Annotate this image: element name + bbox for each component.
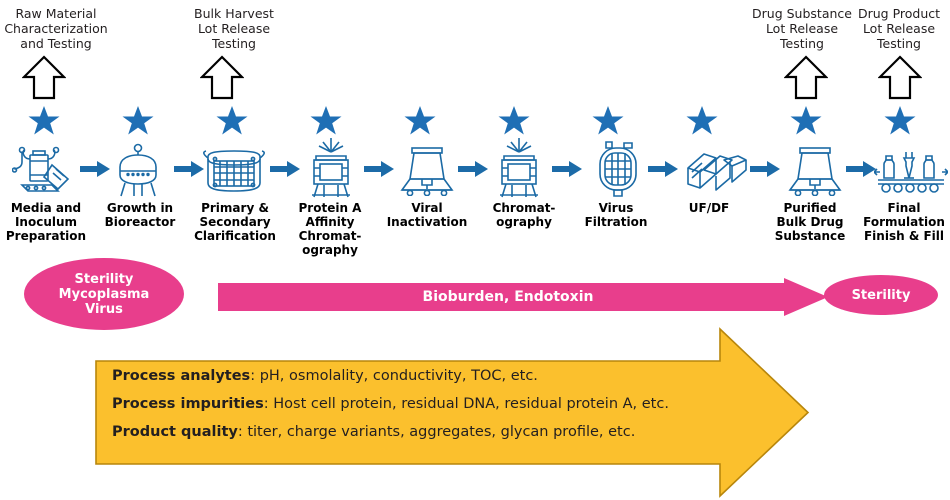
step-label-media-inoculum-preparation: Media and Inoculum Preparation xyxy=(0,201,92,243)
quality-star-icon xyxy=(592,105,624,136)
up-arrow-drug-product xyxy=(878,55,922,100)
analytics-body-process-analytes: : pH, osmolality, conductivity, TOC, etc… xyxy=(250,368,538,384)
callout-label-raw-material: Raw Material Characterization and Testin… xyxy=(0,6,112,51)
up-arrow-bulk-harvest xyxy=(200,55,244,100)
step-label-uf-df: UF/DF xyxy=(664,201,754,215)
flow-arrow-icon xyxy=(174,160,204,178)
quality-star-icon xyxy=(790,105,822,136)
analytics-callout-text: Process analytes: pH, osmolality, conduc… xyxy=(112,362,712,446)
flow-arrow-icon xyxy=(364,160,394,178)
process-flow-diagram: Raw Material Characterization and Testin… xyxy=(0,0,950,500)
step-label-final-formulation-finish-fill: Final Formulation Finish & Fill xyxy=(858,201,950,243)
media-inoculum-prep-icon xyxy=(12,145,76,197)
flow-arrow-icon xyxy=(648,160,678,178)
purified-bulk-tank-icon xyxy=(786,146,844,196)
flow-arrow-icon xyxy=(80,160,110,178)
analytics-heading-process-analytes: Process analytes xyxy=(112,368,250,384)
quality-star-icon xyxy=(122,105,154,136)
ufdf-cassette-icon xyxy=(684,150,748,194)
analytics-line-product-quality: Product quality: titer, charge variants,… xyxy=(112,418,712,446)
fill-finish-vials-icon xyxy=(874,146,948,196)
flow-arrow-icon xyxy=(270,160,300,178)
step-label-chromatography: Chromat- ography xyxy=(478,201,570,229)
virus-filtration-icon xyxy=(592,140,644,198)
flow-arrow-icon xyxy=(846,160,876,178)
analytics-body-product-quality: : titer, charge variants, aggregates, gl… xyxy=(238,424,635,440)
quality-star-icon xyxy=(686,105,718,136)
bioreactor-icon xyxy=(108,143,168,197)
microbial-test-right-text: Sterility xyxy=(852,288,911,303)
chromatography-column-icon xyxy=(490,138,548,198)
microbial-test-left-text: Sterility Mycoplasma Virus xyxy=(59,272,150,317)
up-arrow-drug-substance xyxy=(784,55,828,100)
analytics-heading-product-quality: Product quality xyxy=(112,424,238,440)
step-label-growth-in-bioreactor: Growth in Bioreactor xyxy=(92,201,188,229)
bioburden-endotoxin-arrow xyxy=(218,278,828,316)
microbial-test-ellipse-right: Sterility xyxy=(824,275,938,315)
callout-label-drug-product: Drug Product Lot Release Testing xyxy=(848,6,950,51)
flow-arrow-icon xyxy=(552,160,582,178)
quality-star-icon xyxy=(216,105,248,136)
up-arrow-raw-material xyxy=(22,55,66,100)
analytics-heading-process-impurities: Process impurities xyxy=(112,396,264,412)
step-label-virus-filtration: Virus Filtration xyxy=(572,201,660,229)
analytics-line-process-impurities: Process impurities: Host cell protein, r… xyxy=(112,390,712,418)
viral-inactivation-tank-icon xyxy=(398,146,456,196)
quality-star-icon xyxy=(498,105,530,136)
quality-star-icon xyxy=(404,105,436,136)
callout-label-bulk-harvest: Bulk Harvest Lot Release Testing xyxy=(178,6,290,51)
step-label-protein-a-affinity-chromatography: Protein A Affinity Chromat- ography xyxy=(286,201,374,257)
microbial-test-ellipse-left: Sterility Mycoplasma Virus xyxy=(24,258,184,330)
flow-arrow-icon xyxy=(750,160,780,178)
analytics-body-process-impurities: : Host cell protein, residual DNA, resid… xyxy=(264,396,669,412)
step-label-purified-bulk-drug-substance: Purified Bulk Drug Substance xyxy=(762,201,858,243)
callout-label-drug-substance: Drug Substance Lot Release Testing xyxy=(742,6,862,51)
flow-arrow-icon xyxy=(458,160,488,178)
analytics-line-process-analytes: Process analytes: pH, osmolality, conduc… xyxy=(112,362,712,390)
quality-star-icon xyxy=(310,105,342,136)
chromatography-column-icon xyxy=(302,138,360,198)
step-label-viral-inactivation: Viral Inactivation xyxy=(376,201,478,229)
quality-star-icon xyxy=(28,105,60,136)
quality-star-icon xyxy=(884,105,916,136)
clarification-filter-icon xyxy=(200,147,268,195)
step-label-primary-secondary-clarification: Primary & Secondary Clarification xyxy=(186,201,284,243)
